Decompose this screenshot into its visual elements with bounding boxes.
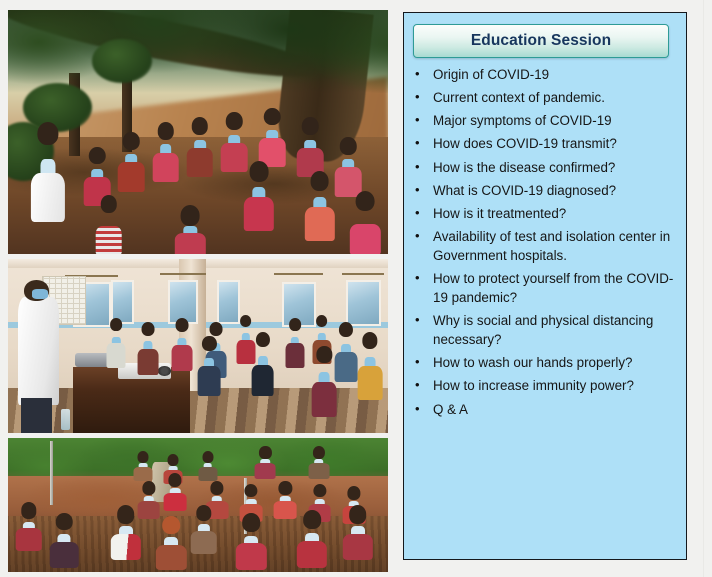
sari [118, 162, 145, 191]
clothing [133, 467, 152, 481]
clothing [335, 352, 358, 382]
curtain-rod [342, 273, 384, 275]
head [181, 205, 200, 225]
bullet-icon: • [413, 204, 433, 222]
head [110, 318, 122, 331]
list-item: • How to wash our hands properly? [413, 353, 678, 372]
sari [187, 148, 214, 177]
list-item-label: What is COVID-19 diagnosed? [433, 181, 678, 200]
head [37, 122, 58, 145]
audience-member [285, 318, 304, 367]
water-bottle [61, 409, 69, 430]
head [313, 484, 326, 498]
list-item-label: How is the disease confirmed? [433, 158, 678, 177]
presenter-white-coat [18, 297, 60, 405]
list-item-label: How to increase immunity power? [433, 376, 678, 395]
seated-participant [236, 513, 266, 569]
head [339, 322, 353, 337]
seated-participant [133, 451, 152, 480]
seated-participant [259, 108, 286, 167]
clothing [171, 345, 192, 371]
tree-canopy [8, 10, 388, 93]
head [210, 322, 223, 336]
clothing [198, 366, 221, 396]
seated-participant [152, 122, 179, 181]
head [142, 481, 155, 495]
head [302, 117, 318, 135]
head [56, 513, 73, 530]
clothing [236, 543, 266, 570]
audience-member [251, 332, 274, 395]
head [356, 191, 375, 211]
list-item: • Current context of pandemic. [413, 88, 678, 107]
projector-lens [158, 366, 171, 376]
head [340, 137, 356, 155]
list-item: • Q & A [413, 400, 678, 419]
sari [152, 153, 179, 182]
photo-outdoor-hillside-group-session [8, 438, 388, 572]
slide-canvas: Education Session • Origin of COVID-19 •… [0, 0, 712, 577]
bullet-icon: • [413, 65, 433, 83]
head [349, 505, 367, 524]
audience-member [358, 332, 383, 398]
head [21, 502, 36, 518]
seated-participant [198, 451, 217, 480]
head [226, 112, 242, 130]
clothing [251, 365, 274, 396]
white-red-shawl [111, 534, 141, 560]
head [245, 484, 258, 498]
audience-member [312, 346, 337, 416]
head [256, 332, 270, 347]
head [310, 171, 329, 191]
head [168, 454, 179, 466]
sari [244, 197, 274, 231]
head [240, 315, 252, 328]
head [117, 505, 135, 524]
clothing [137, 349, 158, 375]
seated-participant [16, 502, 43, 550]
list-item-label: Why is social and physical distancing ne… [433, 311, 678, 349]
bullet-icon: • [413, 269, 433, 287]
head [279, 481, 292, 495]
curtain-rod [160, 273, 206, 275]
head [317, 346, 332, 363]
red-sari [164, 493, 187, 511]
head [202, 336, 216, 351]
photo-indoor-hall-presentation-with-projector [8, 259, 388, 433]
head [347, 486, 360, 500]
clothing [50, 542, 79, 568]
head [89, 147, 105, 165]
curtain-rod [274, 273, 323, 275]
audience-member [335, 322, 358, 381]
list-item-label: Availability of test and isolation cente… [433, 227, 678, 265]
list-item: • Availability of test and isolation cen… [413, 227, 678, 265]
bullet-icon: • [413, 227, 433, 245]
photo-1-scene [8, 10, 388, 254]
bullet-icon: • [413, 311, 433, 329]
head [313, 446, 325, 459]
clothing [107, 343, 126, 367]
education-session-panel: Education Session • Origin of COVID-19 •… [403, 12, 687, 560]
page-title: Education Session [471, 32, 611, 50]
head [157, 122, 173, 140]
bullet-icon: • [413, 353, 433, 371]
head [202, 451, 213, 463]
head [316, 315, 328, 328]
health-worker-white-coat [31, 122, 65, 220]
clothing [342, 534, 372, 560]
head [362, 332, 377, 349]
head [196, 505, 211, 521]
head [163, 516, 181, 535]
audience-member [137, 322, 158, 374]
bullet-icon: • [413, 88, 433, 106]
list-item: • How to increase immunity power? [413, 376, 678, 395]
sari [350, 224, 380, 254]
bullet-icon: • [413, 158, 433, 176]
list-item: • Origin of COVID-19 [413, 65, 678, 84]
seated-participant [118, 132, 145, 191]
photo-column [8, 10, 388, 563]
presenter-face-mask [32, 289, 48, 299]
clothing [255, 463, 276, 478]
seated-participant [255, 446, 276, 478]
striped-shirt [95, 226, 122, 254]
clothing [274, 501, 297, 519]
bullet-icon: • [413, 134, 433, 152]
clothing [308, 463, 329, 478]
list-item-label: Q & A [433, 400, 678, 419]
head [264, 108, 280, 126]
head [289, 318, 301, 331]
clothing [156, 545, 186, 571]
seated-participant [297, 117, 324, 176]
bullet-icon: • [413, 111, 433, 129]
head [210, 481, 223, 495]
slide-right-edge [703, 0, 704, 577]
list-item-label: Current context of pandemic. [433, 88, 678, 107]
clothing [198, 467, 217, 481]
seated-participant [350, 191, 380, 254]
white-coat [31, 173, 65, 222]
clothing [285, 343, 304, 367]
seated-participant [244, 161, 274, 229]
photo-2-scene [8, 259, 388, 433]
seated-participant [111, 505, 141, 559]
seated-participant [187, 117, 214, 176]
head [100, 195, 116, 213]
audience-member [107, 318, 126, 367]
list-item: • How is the disease confirmed? [413, 158, 678, 177]
sari [304, 207, 334, 241]
list-item-label: Major symptoms of COVID-19 [433, 111, 678, 130]
seated-participant [50, 513, 79, 567]
sari [175, 233, 205, 254]
seated-child [95, 195, 122, 254]
list-item: • How does COVID-19 transmit? [413, 134, 678, 153]
white-pole [50, 441, 53, 505]
seated-participant [297, 510, 327, 566]
seated-participant [156, 516, 186, 570]
list-item: • Major symptoms of COVID-19 [413, 111, 678, 130]
seated-participant [175, 205, 205, 254]
list-item: • What is COVID-19 diagnosed? [413, 181, 678, 200]
head [259, 446, 271, 459]
clothing [297, 541, 327, 568]
seated-participant [342, 505, 372, 559]
bullet-icon: • [413, 376, 433, 394]
education-session-title-bar: Education Session [413, 24, 669, 58]
clothing [358, 366, 383, 399]
photo-3-scene [8, 438, 388, 572]
list-item: • How to protect yourself from the COVID… [413, 269, 678, 307]
photo-outdoor-community-session-under-tree [8, 10, 388, 254]
audience-member [198, 336, 221, 395]
seated-participant [335, 137, 362, 196]
head [192, 117, 208, 135]
list-item-label: How to protect yourself from the COVID-1… [433, 269, 678, 307]
head [303, 510, 321, 529]
seated-participant [304, 171, 334, 239]
head [123, 132, 139, 150]
clothing [16, 528, 43, 551]
seated-participant [190, 505, 217, 553]
leaf-clump [92, 39, 153, 83]
head [249, 161, 268, 181]
list-item: • Why is social and physical distancing … [413, 311, 678, 349]
education-topics-list: • Origin of COVID-19 • Current context o… [413, 65, 678, 423]
list-item-label: How does COVID-19 transmit? [433, 134, 678, 153]
clothing [312, 382, 337, 417]
window [346, 280, 380, 326]
seated-participant [164, 473, 187, 511]
head [242, 513, 260, 532]
seated-participant [274, 481, 297, 519]
bullet-icon: • [413, 400, 433, 418]
bullet-icon: • [413, 181, 433, 199]
head [141, 322, 154, 336]
list-item-label: Origin of COVID-19 [433, 65, 678, 84]
head [137, 451, 148, 463]
audience-member [171, 318, 192, 370]
seated-participant [308, 446, 329, 478]
head [169, 473, 182, 487]
list-item: • How is it treatmented? [413, 204, 678, 223]
list-item-label: How is it treatmented? [433, 204, 678, 223]
list-item-label: How to wash our hands properly? [433, 353, 678, 372]
head [175, 318, 188, 332]
presenter-legs [21, 398, 51, 433]
clothing [190, 531, 217, 554]
